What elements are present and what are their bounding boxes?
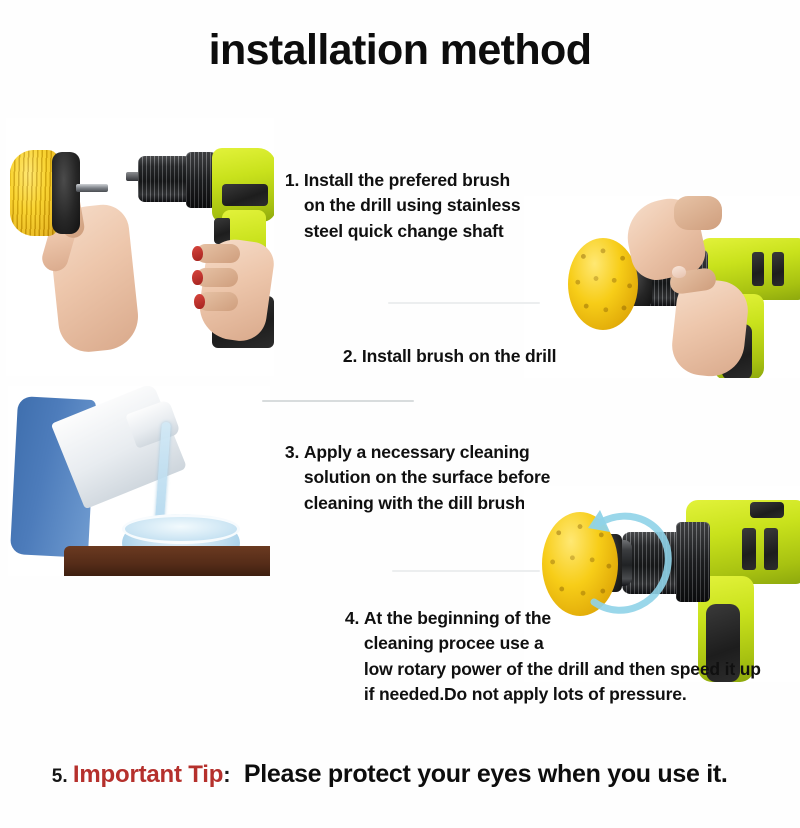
- tip-colon: :: [223, 762, 230, 787]
- chuck-ribs: [138, 156, 190, 202]
- step-1-body: Install the prefered brushon the drill u…: [304, 168, 521, 245]
- quick-change-shaft: [76, 184, 108, 192]
- step-3-body: Apply a necessary cleaningsolution on th…: [304, 440, 550, 517]
- step-4-body: At the beginning of thecleaning procee u…: [364, 606, 761, 708]
- photo-pouring-cleaning-solution: [8, 386, 270, 576]
- step-2-body: Install brush on the drill: [362, 344, 556, 370]
- drill-chuck: [138, 156, 190, 202]
- separator-step-3: [262, 400, 414, 402]
- tip-number: 5.: [52, 766, 68, 787]
- red-nail-2: [192, 270, 203, 285]
- step-4-line-3: low rotary power of the drill and then s…: [364, 657, 761, 683]
- step-2: 2. Install brush on the drill: [324, 318, 556, 395]
- step-1-line-2: on the drill using stainless: [304, 193, 521, 219]
- photo-attaching-brush-to-drill: [524, 196, 800, 378]
- step-1-number: 1.: [285, 168, 299, 194]
- yellow-disc-brush-2: [568, 238, 638, 330]
- red-nail-1: [192, 246, 203, 261]
- step-1-line-3: steel quick change shaft: [304, 219, 521, 245]
- photo-brush-and-drill-in-hands: [6, 118, 274, 376]
- step-3-line-1: Apply a necessary cleaning: [304, 440, 550, 466]
- separator-step-2: [388, 302, 540, 304]
- step-4-line-1: At the beginning of the: [364, 606, 761, 632]
- tip-label: Important Tip: [73, 761, 223, 788]
- step-4-number: 4.: [345, 606, 359, 632]
- step-3-line-3: cleaning with the dill brush: [304, 491, 550, 517]
- tip-text: Please protect your eyes when you use it…: [244, 760, 728, 788]
- step-4-line-4: if needed.Do not apply lots of pressure.: [364, 682, 761, 708]
- red-nail-3: [194, 294, 205, 309]
- step-4-line-2: cleaning procee use a: [364, 631, 761, 657]
- instruction-sheet: installation method: [0, 0, 800, 828]
- step-3-line-2: solution on the surface before: [304, 465, 550, 491]
- fingernail-2: [672, 266, 686, 278]
- separator-step-4: [392, 570, 540, 572]
- brush-backing-plate: [52, 152, 80, 234]
- drill-grip-panel: [222, 184, 268, 206]
- jar-rim: [122, 514, 240, 544]
- step-1-line-1: Install the prefered brush: [304, 168, 521, 194]
- wooden-table: [64, 546, 270, 576]
- drill-vent-4: [764, 528, 778, 570]
- step-2-number: 2.: [343, 344, 357, 370]
- important-tip: 5. Important Tip: Please protect your ey…: [34, 742, 728, 807]
- step-1: 1. Install the prefered brushon the dril…: [266, 142, 520, 270]
- drill-vent-3: [742, 528, 756, 570]
- step-3: 3. Apply a necessary cleaningsolution on…: [266, 414, 550, 542]
- brush-bristles: [10, 150, 58, 236]
- forearm-upper: [674, 196, 722, 230]
- step-4: 4. At the beginning of thecleaning proce…: [326, 580, 761, 733]
- page-title: installation method: [0, 26, 800, 75]
- drill-vent-panel: [752, 252, 764, 286]
- drill-top-switch: [750, 502, 784, 518]
- drill-vent-panel-2: [772, 252, 784, 286]
- step-3-number: 3.: [285, 440, 299, 466]
- step-2-line-1: Install brush on the drill: [362, 344, 556, 370]
